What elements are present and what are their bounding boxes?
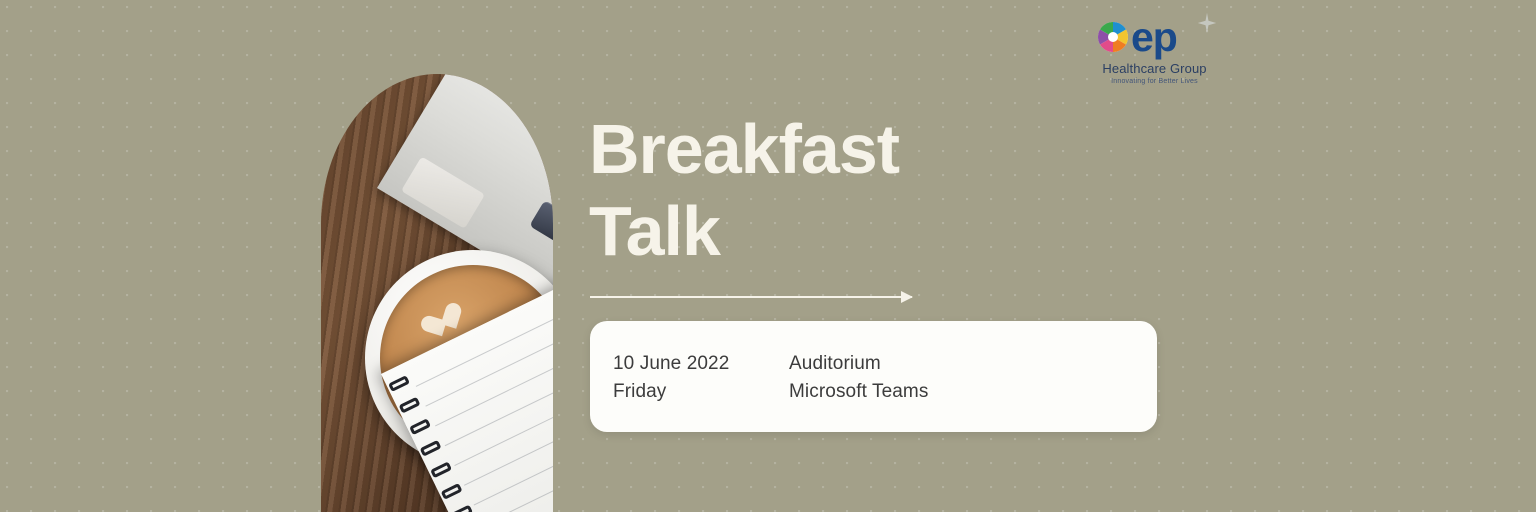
event-venue: Auditorium xyxy=(789,350,928,378)
logo-tagline: Innovating for Better Lives xyxy=(1097,77,1212,87)
keyboard-key xyxy=(529,200,553,243)
notebook-rule xyxy=(445,325,553,446)
sparkle-icon xyxy=(1196,12,1218,34)
title-line-2: Talk xyxy=(589,190,899,272)
notebook-rule xyxy=(493,424,553,512)
ep-color-pie-icon xyxy=(1097,21,1129,53)
page-title: Breakfast Talk xyxy=(589,108,899,272)
logo-wordmark: ep xyxy=(1131,17,1177,57)
notebook-coil xyxy=(420,440,442,457)
arrow-head xyxy=(901,291,913,303)
event-platform: Microsoft Teams xyxy=(789,378,928,406)
arrow-shaft xyxy=(590,296,912,298)
title-line-1: Breakfast xyxy=(589,108,899,190)
event-date-column: 10 June 2022 Friday xyxy=(613,350,789,406)
event-venue-column: Auditorium Microsoft Teams xyxy=(789,350,928,406)
right-arrow-icon xyxy=(590,296,912,298)
notebook-rule xyxy=(474,384,553,505)
event-banner: Breakfast Talk 10 June 2022 Friday Audit… xyxy=(0,0,1536,512)
notebook-coil xyxy=(430,461,452,478)
coffee-photo xyxy=(321,74,553,512)
event-date: 10 June 2022 xyxy=(613,350,789,378)
logo-mark-row: ep xyxy=(1097,14,1212,60)
notebook-coil xyxy=(441,483,463,500)
event-details-columns: 10 June 2022 Friday Auditorium Microsoft… xyxy=(613,350,928,406)
event-day: Friday xyxy=(613,378,789,406)
notebook-rule xyxy=(512,464,553,512)
notebook-coil xyxy=(388,375,410,392)
notebook-coil xyxy=(409,418,431,435)
notebook-rule xyxy=(464,365,553,486)
notebook-coil xyxy=(399,397,421,414)
ep-healthcare-group-logo: ep Healthcare Group Innovating for Bette… xyxy=(1097,14,1212,94)
logo-company-name: Healthcare Group xyxy=(1097,61,1212,77)
event-details-card: 10 June 2022 Friday Auditorium Microsoft… xyxy=(590,321,1157,432)
notebook-coil xyxy=(451,505,473,512)
